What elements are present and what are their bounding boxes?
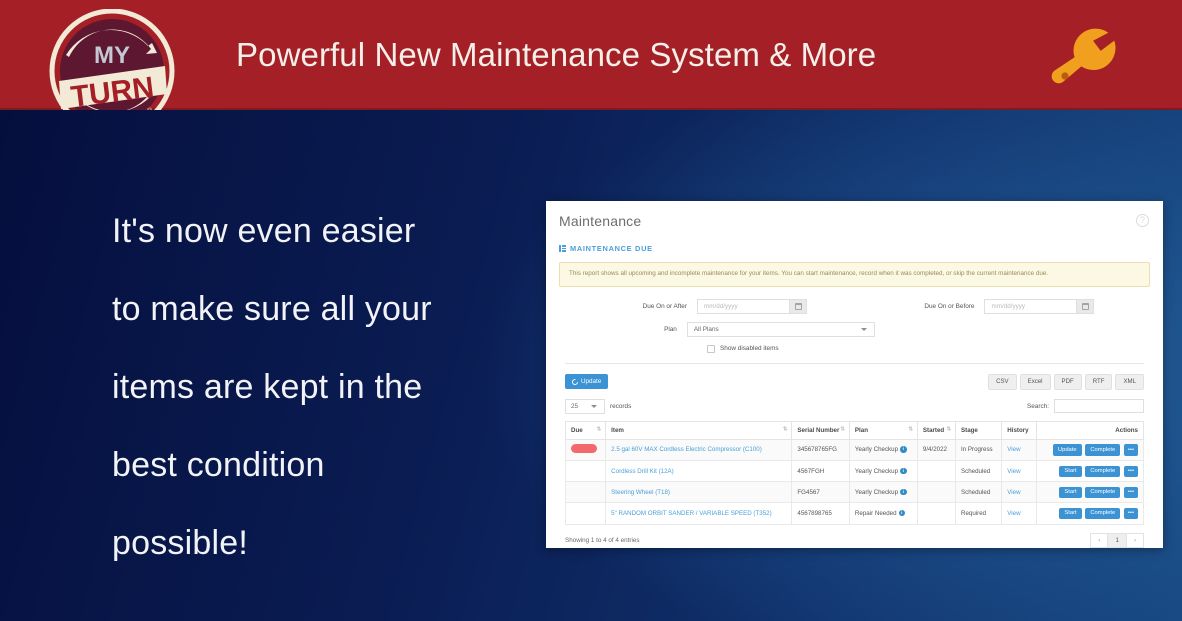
due-on-before-label: Due On or Before	[874, 303, 984, 310]
row-more-button[interactable]: •••	[1124, 508, 1138, 519]
column-plan[interactable]: Plan⇅	[849, 421, 917, 439]
info-icon[interactable]: i	[900, 468, 907, 475]
sort-icon: ⇅	[783, 428, 788, 433]
cell-actions: Update Complete •••	[1037, 439, 1144, 460]
export-pdf-button[interactable]: PDF	[1054, 374, 1082, 390]
cell-due	[566, 439, 606, 460]
row-more-button[interactable]: •••	[1124, 466, 1138, 477]
records-value: 25	[566, 403, 578, 410]
show-disabled-label: Show disabled items	[720, 345, 779, 352]
form-row-dates: Due On or After mm/dd/yyyy Due On or Bef…	[565, 299, 1144, 314]
sort-icon: ⇅	[946, 428, 951, 433]
cell-due	[566, 482, 606, 503]
plan-value: All Plans	[688, 326, 719, 333]
cell-started	[917, 482, 955, 503]
row-complete-button[interactable]: Complete	[1085, 508, 1120, 519]
export-buttons: CSV Excel PDF RTF XML	[988, 374, 1144, 390]
row-start-button[interactable]: Start	[1059, 466, 1081, 477]
item-link[interactable]: Cordless Drill Kit (12A)	[611, 468, 674, 475]
refresh-icon	[571, 378, 579, 386]
page-title: Powerful New Maintenance System & More	[236, 0, 876, 110]
calendar-icon[interactable]	[1076, 300, 1093, 313]
column-item[interactable]: Item⇅	[606, 421, 792, 439]
update-button-label: Update	[581, 378, 601, 385]
sort-icon: ⇅	[597, 428, 602, 433]
cell-history: View	[1002, 439, 1037, 460]
plan-name: Yearly Checkup	[855, 489, 898, 496]
cell-stage: Scheduled	[956, 482, 1002, 503]
pagination-next[interactable]: ›	[1126, 533, 1144, 548]
row-complete-button[interactable]: Complete	[1085, 444, 1120, 455]
plan-select[interactable]: All Plans	[687, 322, 875, 337]
cell-serial: 4567898765	[792, 503, 850, 524]
column-actions-label: Actions	[1115, 427, 1138, 434]
column-serial-label: Serial Number	[797, 427, 839, 434]
item-link[interactable]: Steering Wheel (T18)	[611, 489, 670, 496]
column-history-label: History	[1007, 427, 1028, 434]
row-more-button[interactable]: •••	[1124, 487, 1138, 498]
due-on-before-placeholder: mm/dd/yyyy	[985, 303, 1025, 310]
column-due[interactable]: Due⇅	[566, 421, 606, 439]
cell-serial: 4567FGH	[792, 461, 850, 482]
chevron-down-icon	[591, 405, 597, 408]
column-item-label: Item	[611, 427, 624, 434]
column-plan-label: Plan	[855, 427, 868, 434]
search-input[interactable]	[1054, 399, 1144, 413]
chevron-down-icon	[861, 328, 867, 331]
sort-icon: ⇅	[840, 428, 845, 433]
show-disabled-checkbox[interactable]	[707, 345, 715, 353]
slide: MY TURN ® Powerful New Maintenance Syste…	[0, 0, 1182, 621]
cell-due	[566, 461, 606, 482]
action-row: Update CSV Excel PDF RTF XML	[565, 374, 1144, 390]
due-overdue-badge	[571, 444, 597, 453]
headline-line-1: It's now even easier	[112, 192, 512, 270]
plan-name: Yearly Checkup	[855, 468, 898, 475]
column-due-label: Due	[571, 427, 583, 434]
cell-started	[917, 461, 955, 482]
hero-headline: It's now even easier to make sure all yo…	[112, 192, 512, 582]
logo-top-text: MY	[94, 42, 130, 69]
show-disabled-row[interactable]: Show disabled items	[565, 345, 1144, 353]
grid-icon	[559, 245, 566, 252]
table-row: 5" RANDOM ORBIT SANDER / VARIABLE SPEED …	[566, 503, 1144, 524]
wrench-icon	[1047, 22, 1127, 88]
column-stage-label: Stage	[961, 427, 978, 434]
history-view-link[interactable]: View	[1007, 510, 1020, 517]
cell-started	[917, 503, 955, 524]
cell-plan: Yearly Checkupi	[849, 439, 917, 460]
headline-line-3: items are kept in the	[112, 348, 512, 426]
info-icon[interactable]: i	[900, 446, 907, 453]
table-row: Cordless Drill Kit (12A) 4567FGH Yearly …	[566, 461, 1144, 482]
cell-stage: Required	[956, 503, 1002, 524]
row-start-button[interactable]: Start	[1059, 508, 1081, 519]
cell-due	[566, 503, 606, 524]
headline-line-5: possible!	[112, 504, 512, 582]
table-controls: 25 records Search:	[565, 399, 1144, 414]
row-update-button[interactable]: Update	[1053, 444, 1082, 455]
cell-started: 9/4/2022	[917, 439, 955, 460]
cell-serial: 345678765FG	[792, 439, 850, 460]
row-more-button[interactable]: •••	[1124, 444, 1138, 455]
export-xml-button[interactable]: XML	[1115, 374, 1144, 390]
cell-history: View	[1002, 461, 1037, 482]
app-page-title: Maintenance	[559, 213, 1150, 229]
cell-item: Steering Wheel (T18)	[606, 482, 792, 503]
item-link[interactable]: 2.5 gal 60V MAX Cordless Electric Compre…	[611, 446, 762, 453]
table-row: Steering Wheel (T18) FG4567 Yearly Check…	[566, 482, 1144, 503]
due-on-after-placeholder: mm/dd/yyyy	[698, 303, 738, 310]
app-screenshot: Maintenance ? MAINTENANCE DUE This repor…	[546, 201, 1163, 548]
column-stage: Stage	[956, 421, 1002, 439]
row-complete-button[interactable]: Complete	[1085, 466, 1120, 477]
pagination-page-1[interactable]: 1	[1107, 533, 1126, 548]
form-divider	[565, 363, 1144, 364]
cell-item: 5" RANDOM ORBIT SANDER / VARIABLE SPEED …	[606, 503, 792, 524]
form-row-plan: Plan All Plans	[565, 322, 1144, 337]
cell-stage: Scheduled	[956, 461, 1002, 482]
history-view-link[interactable]: View	[1007, 489, 1020, 496]
sort-icon: ⇅	[908, 428, 913, 433]
records-per-page: 25 records	[565, 399, 631, 414]
pagination-prev[interactable]: ‹	[1090, 533, 1108, 548]
section-title: MAINTENANCE DUE	[570, 244, 653, 253]
item-link[interactable]: 5" RANDOM ORBIT SANDER / VARIABLE SPEED …	[611, 510, 771, 517]
due-on-after-input[interactable]: mm/dd/yyyy	[697, 299, 807, 314]
cell-item: 2.5 gal 60V MAX Cordless Electric Compre…	[606, 439, 792, 460]
records-label: records	[610, 403, 631, 410]
maintenance-table: Due⇅ Item⇅ Serial Number⇅ Plan⇅ Started⇅…	[565, 421, 1144, 525]
column-actions: Actions	[1037, 421, 1144, 439]
table-row: 2.5 gal 60V MAX Cordless Electric Compre…	[566, 439, 1144, 460]
info-icon[interactable]: i	[900, 489, 907, 496]
plan-name: Yearly Checkup	[855, 446, 898, 453]
calendar-icon[interactable]	[789, 300, 806, 313]
export-rtf-button[interactable]: RTF	[1085, 374, 1113, 390]
entries-count: Showing 1 to 4 of 4 entries	[565, 537, 640, 544]
cell-actions: Start Complete •••	[1037, 482, 1144, 503]
column-history: History	[1002, 421, 1037, 439]
headline-line-2: to make sure all your	[112, 270, 512, 348]
cell-actions: Start Complete •••	[1037, 503, 1144, 524]
info-alert: This report shows all upcoming and incom…	[559, 262, 1150, 287]
due-on-before-input[interactable]: mm/dd/yyyy	[984, 299, 1094, 314]
history-view-link[interactable]: View	[1007, 468, 1020, 475]
help-icon[interactable]: ?	[1136, 214, 1149, 227]
update-button[interactable]: Update	[565, 374, 608, 389]
history-view-link[interactable]: View	[1007, 446, 1020, 453]
column-started[interactable]: Started⇅	[917, 421, 955, 439]
info-icon[interactable]: i	[899, 510, 906, 517]
cell-serial: FG4567	[792, 482, 850, 503]
search-label: Search:	[1027, 403, 1049, 410]
pagination: ‹ 1 ›	[1091, 533, 1144, 548]
table-header-row: Due⇅ Item⇅ Serial Number⇅ Plan⇅ Started⇅…	[566, 421, 1144, 439]
records-select[interactable]: 25	[565, 399, 605, 414]
plan-label: Plan	[565, 326, 687, 333]
header-bar: MY TURN ® Powerful New Maintenance Syste…	[0, 0, 1182, 110]
filter-form: Due On or After mm/dd/yyyy Due On or Bef…	[559, 299, 1150, 548]
column-serial[interactable]: Serial Number⇅	[792, 421, 850, 439]
column-started-label: Started	[923, 427, 944, 434]
section-header: MAINTENANCE DUE	[559, 244, 1150, 253]
cell-history: View	[1002, 503, 1037, 524]
cell-plan: Yearly Checkupi	[849, 461, 917, 482]
due-on-after-label: Due On or After	[565, 303, 697, 310]
cell-actions: Start Complete •••	[1037, 461, 1144, 482]
table-footer: Showing 1 to 4 of 4 entries ‹ 1 ›	[565, 533, 1144, 548]
cell-history: View	[1002, 482, 1037, 503]
headline-line-4: best condition	[112, 426, 512, 504]
cell-plan: Repair Neededi	[849, 503, 917, 524]
cell-plan: Yearly Checkupi	[849, 482, 917, 503]
row-complete-button[interactable]: Complete	[1085, 487, 1120, 498]
export-excel-button[interactable]: Excel	[1020, 374, 1051, 390]
plan-name: Repair Needed	[855, 510, 897, 517]
cell-stage: In Progress	[956, 439, 1002, 460]
export-csv-button[interactable]: CSV	[988, 374, 1017, 390]
cell-item: Cordless Drill Kit (12A)	[606, 461, 792, 482]
search-control: Search:	[1027, 399, 1144, 413]
row-start-button[interactable]: Start	[1059, 487, 1081, 498]
